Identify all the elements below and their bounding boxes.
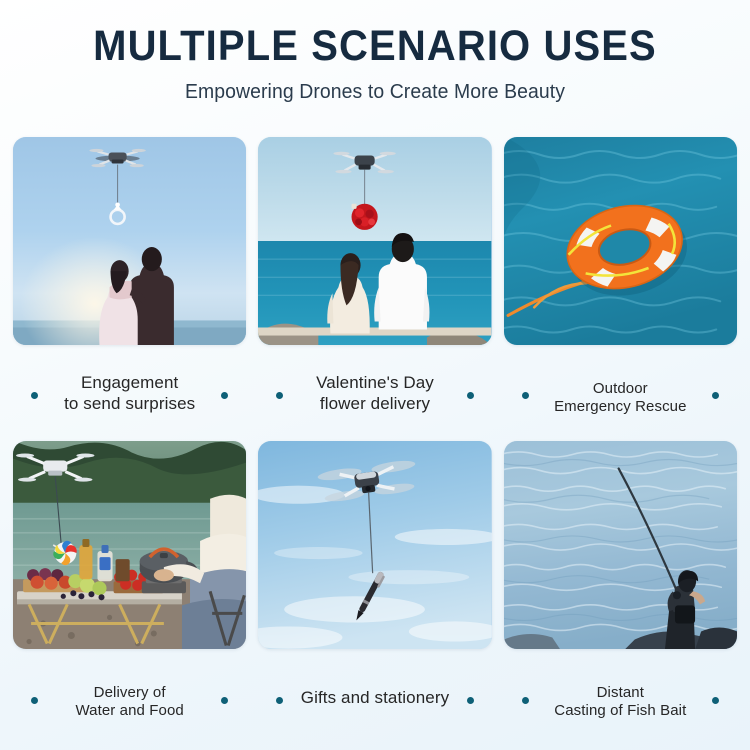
- page-header: MULTIPLE SCENARIO USES Empowering Drones…: [0, 0, 750, 104]
- distant-fish-bait-casting-photo[interactable]: [504, 441, 737, 649]
- caption-line-1: Outdoor: [554, 380, 687, 398]
- caption-line-2: Water and Food: [75, 702, 183, 720]
- decorative-dot-icon: [712, 697, 719, 704]
- scenario-card-stationery[interactable]: Gifts and stationery: [258, 441, 491, 745]
- caption-line-2: flower delivery: [316, 393, 434, 414]
- scenario-card-rescue[interactable]: Outdoor Emergency Rescue: [504, 137, 737, 441]
- scenario-card-engagement[interactable]: Engagement to send surprises: [13, 137, 246, 441]
- caption-line-2: Emergency Rescue: [554, 398, 687, 416]
- decorative-dot-icon: [467, 697, 474, 704]
- caption-row-stationery: Gifts and stationery: [258, 649, 491, 745]
- caption-row-rescue: Outdoor Emergency Rescue: [504, 345, 737, 441]
- decorative-dot-icon: [31, 697, 38, 704]
- gifts-and-stationery-photo[interactable]: [258, 441, 491, 649]
- caption-line-2: to send surprises: [64, 393, 195, 414]
- scenario-caption-stationery: Gifts and stationery: [275, 687, 475, 708]
- page-title: MULTIPLE SCENARIO USES: [26, 22, 724, 70]
- scenario-caption-fish-bait: Distant Casting of Fish Bait: [528, 684, 712, 720]
- caption-line-1: Delivery of: [75, 684, 183, 702]
- caption-row-fish-bait: Distant Casting of Fish Bait: [504, 649, 737, 745]
- decorative-dot-icon: [276, 392, 283, 399]
- scenario-showcase-page: MULTIPLE SCENARIO USES Empowering Drones…: [0, 0, 750, 750]
- caption-line-1: Valentine's Day: [316, 372, 434, 393]
- decorative-dot-icon: [467, 392, 474, 399]
- caption-row-engagement: Engagement to send surprises: [13, 345, 246, 441]
- scenario-caption-rescue: Outdoor Emergency Rescue: [528, 380, 713, 416]
- caption-row-water-food: Delivery of Water and Food: [13, 649, 246, 745]
- caption-line-1: Engagement: [64, 372, 195, 393]
- decorative-dot-icon: [221, 392, 228, 399]
- scenario-card-fish-bait[interactable]: Distant Casting of Fish Bait: [504, 441, 737, 745]
- caption-line-1: Gifts and stationery: [301, 687, 449, 708]
- decorative-dot-icon: [31, 392, 38, 399]
- scenario-caption-valentines: Valentine's Day flower delivery: [290, 372, 460, 414]
- scenario-caption-water-food: Delivery of Water and Food: [49, 684, 209, 720]
- scenario-grid: Engagement to send surprises: [13, 137, 737, 745]
- valentines-flower-delivery-photo[interactable]: [258, 137, 491, 345]
- page-subtitle: Empowering Drones to Create More Beauty: [11, 80, 739, 104]
- water-and-food-delivery-photo[interactable]: [13, 441, 246, 649]
- scenario-card-water-food[interactable]: Delivery of Water and Food: [13, 441, 246, 745]
- caption-line-2: Casting of Fish Bait: [554, 702, 686, 720]
- decorative-dot-icon: [712, 392, 719, 399]
- engagement-proposal-photo[interactable]: [13, 137, 246, 345]
- outdoor-emergency-rescue-photo[interactable]: [504, 137, 737, 345]
- caption-row-valentines: Valentine's Day flower delivery: [258, 345, 491, 441]
- decorative-dot-icon: [221, 697, 228, 704]
- scenario-caption-engagement: Engagement to send surprises: [38, 372, 221, 414]
- scenario-card-valentines[interactable]: Valentine's Day flower delivery: [258, 137, 491, 441]
- caption-line-1: Distant: [554, 684, 686, 702]
